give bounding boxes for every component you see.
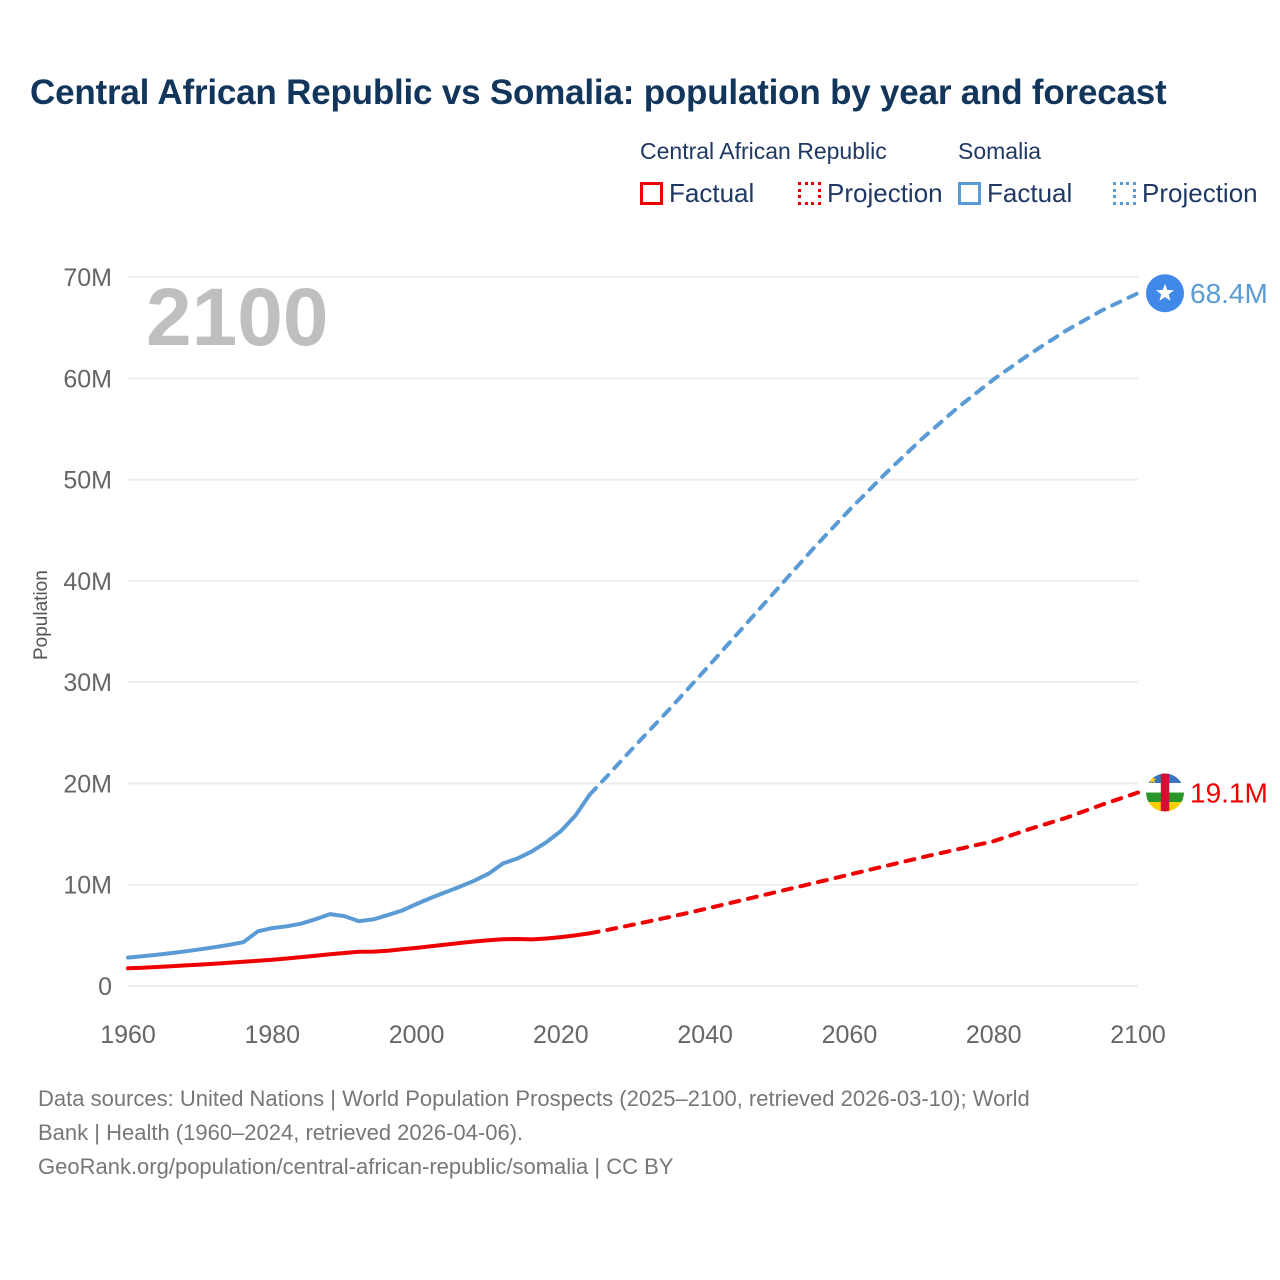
y-tick-label: 70M (63, 264, 112, 292)
x-tick-label: 2000 (389, 1021, 445, 1049)
y-tick-label: 0 (98, 973, 112, 1001)
x-tick-label: 1960 (100, 1021, 156, 1049)
x-axis-ticks: 19601980200020202040206020802100 (100, 1021, 1166, 1049)
endpoint-label-somalia: 68.4M (1190, 278, 1268, 309)
data-series (128, 293, 1138, 968)
x-tick-label: 2060 (822, 1021, 878, 1049)
watermark-year: 2100 (146, 272, 328, 363)
footer-line-2: Bank | Health (1960–2024, retrieved 2026… (38, 1116, 1238, 1150)
x-tick-label: 2100 (1110, 1021, 1166, 1049)
x-tick-label: 2020 (533, 1021, 589, 1049)
endpoint-label-car: 19.1M (1190, 778, 1268, 809)
y-tick-label: 60M (63, 365, 112, 393)
line-chart: 010M20M30M40M50M60M70M 19601980200020202… (0, 0, 1280, 1070)
footer-sources: Data sources: United Nations | World Pop… (38, 1082, 1238, 1184)
x-tick-label: 2040 (677, 1021, 733, 1049)
y-axis-ticks: 010M20M30M40M50M60M70M (63, 264, 112, 1001)
footer-line-1: Data sources: United Nations | World Pop… (38, 1082, 1238, 1116)
car-flag-icon (1146, 774, 1184, 812)
y-axis-title: Population (31, 570, 52, 660)
chart-page: Central African Republic vs Somalia: pop… (0, 0, 1280, 1280)
y-tick-label: 40M (63, 568, 112, 596)
series-line-projection (590, 293, 1138, 794)
footer-line-3: GeoRank.org/population/central-african-r… (38, 1150, 1238, 1184)
y-tick-label: 10M (63, 872, 112, 900)
series-line-factual (128, 795, 590, 958)
y-tick-label: 50M (63, 467, 112, 495)
y-tick-label: 20M (63, 770, 112, 798)
gridlines (128, 277, 1138, 986)
series-line-projection (590, 793, 1138, 934)
endpoint-markers: 68.4M19.1M (1146, 274, 1268, 811)
x-tick-label: 2080 (966, 1021, 1022, 1049)
somalia-flag-icon (1146, 274, 1184, 312)
y-tick-label: 30M (63, 669, 112, 697)
x-tick-label: 1980 (244, 1021, 300, 1049)
